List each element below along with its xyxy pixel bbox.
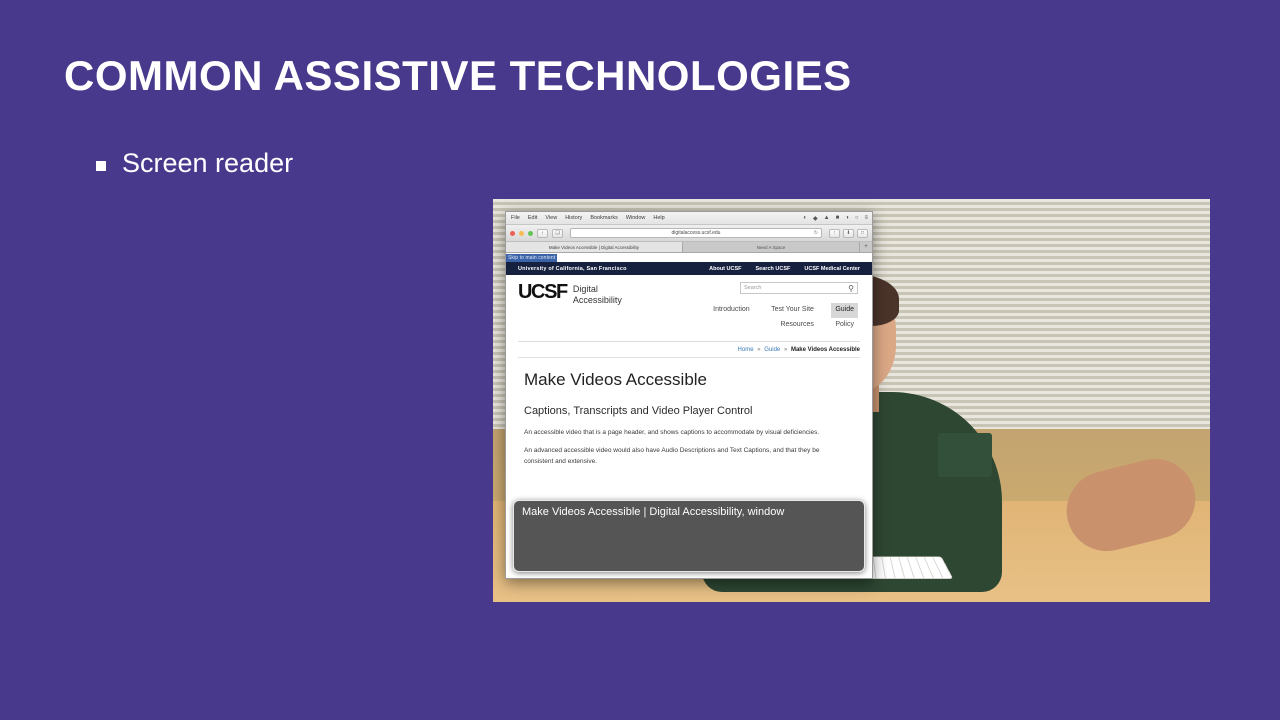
menu-item-window[interactable]: Window	[626, 215, 646, 221]
link-search-ucsf[interactable]: Search UCSF	[756, 266, 791, 272]
bluetooth-icon[interactable]: ◆	[813, 215, 818, 222]
bullet-marker-icon	[96, 161, 106, 171]
clock-icon[interactable]: ◑	[845, 215, 849, 221]
breadcrumb-guide[interactable]: Guide	[764, 347, 780, 353]
content-heading-2: Captions, Transcripts and Video Player C…	[524, 404, 814, 419]
slide-root: COMMON ASSISTIVE TECHNOLOGIES Screen rea…	[0, 0, 1280, 720]
ucsf-logo: UCSF	[518, 282, 567, 302]
menu-item-bookmarks[interactable]: Bookmarks	[590, 215, 618, 221]
content-paragraph-2: An advanced accessible video would also …	[524, 446, 842, 467]
page-content: Make Videos Accessible Captions, Transcr…	[506, 358, 872, 467]
breadcrumb-separator-1: »	[757, 347, 760, 353]
site-header: UCSF Digital Accessibility Search ⚲ Intr…	[506, 275, 872, 337]
wifi-icon[interactable]: ▲	[824, 215, 830, 221]
browser-tab-bar: Make Videos Accessible | Digital Accessi…	[506, 242, 872, 253]
browser-toolbar: ‹ ❑ digitalaccess.ucsf.edu ↻ ↑ ⬇ □	[506, 225, 872, 242]
bullet-item-label: Screen reader	[122, 148, 293, 179]
search-placeholder: Search	[744, 285, 761, 291]
menu-item-view[interactable]: View	[545, 215, 557, 221]
link-ucsf-medical-center[interactable]: UCSF Medical Center	[804, 266, 860, 272]
link-about-ucsf[interactable]: About UCSF	[709, 266, 741, 272]
downloads-button[interactable]: ⬇	[843, 229, 854, 238]
nav-item-introduction[interactable]: Introduction	[709, 303, 754, 318]
toolbar-right-group: ↑ ⬇ □	[829, 229, 868, 238]
share-button[interactable]: ↑	[829, 229, 840, 238]
page-title: COMMON ASSISTIVE TECHNOLOGIES	[64, 52, 852, 100]
tab-overview-button[interactable]: □	[857, 229, 868, 238]
ucsf-brand-label[interactable]: University of California, San Francisco	[518, 266, 627, 272]
ucsf-global-links: About UCSF Search UCSF UCSF Medical Cent…	[709, 266, 860, 272]
nav-item-guide[interactable]: Guide	[831, 303, 858, 318]
content-heading-1: Make Videos Accessible	[524, 370, 854, 390]
address-bar[interactable]: digitalaccess.ucsf.edu ↻	[570, 228, 822, 238]
reload-icon[interactable]: ↻	[814, 230, 818, 236]
nav-item-policy[interactable]: Policy	[831, 318, 858, 333]
minimize-icon[interactable]	[519, 231, 524, 236]
nav-item-test-your-site[interactable]: Test Your Site	[767, 303, 818, 318]
ucsf-global-nav: University of California, San Francisco …	[506, 262, 872, 275]
menu-item-help[interactable]: Help	[653, 215, 664, 221]
battery-icon[interactable]: ■	[836, 215, 840, 221]
sidebar-button[interactable]: ❑	[552, 229, 563, 238]
mac-menu-bar: File Edit View History Bookmarks Window …	[506, 212, 872, 225]
breadcrumb: Home » Guide » Make Videos Accessible	[506, 342, 872, 357]
url-text: digitalaccess.ucsf.edu	[672, 230, 721, 236]
menu-item-history[interactable]: History	[565, 215, 582, 221]
menu-bar-status-icons: ◐ ◆ ▲ ■ ◑ ○ ≡	[803, 212, 868, 224]
site-main-nav: Introduction Test Your Site Guide Resour…	[658, 303, 858, 333]
search-icon[interactable]: ○	[855, 215, 859, 221]
voiceover-caption-panel: Make Videos Accessible | Digital Accessi…	[513, 500, 865, 572]
bullet-list-item: Screen reader	[96, 148, 293, 179]
maximize-icon[interactable]	[528, 231, 533, 236]
volume-icon[interactable]: ◐	[803, 215, 807, 221]
search-input[interactable]: Search ⚲	[740, 282, 858, 294]
site-name-label: Digital Accessibility	[573, 282, 622, 307]
content-paragraph-1: An accessible video that is a page heade…	[524, 428, 842, 438]
new-tab-button[interactable]: +	[860, 242, 872, 252]
skip-to-main-content-link[interactable]: Skip to main content	[506, 254, 557, 262]
tab-secondary[interactable]: Need A Space	[683, 242, 860, 252]
close-icon[interactable]	[510, 231, 515, 236]
menu-item-file[interactable]: File	[511, 215, 520, 221]
browser-window[interactable]: File Edit View History Bookmarks Window …	[505, 211, 873, 579]
breadcrumb-current: Make Videos Accessible	[791, 347, 860, 353]
nav-item-resources[interactable]: Resources	[776, 318, 817, 333]
breadcrumb-separator-2: »	[784, 347, 787, 353]
skip-link-row: Skip to main content	[506, 253, 872, 262]
back-button[interactable]: ‹	[537, 229, 548, 238]
presenter-shirt-pocket	[938, 433, 992, 477]
menu-item-edit[interactable]: Edit	[528, 215, 537, 221]
menu-icon[interactable]: ≡	[864, 215, 868, 221]
breadcrumb-home[interactable]: Home	[738, 347, 754, 353]
tab-make-videos-accessible[interactable]: Make Videos Accessible | Digital Accessi…	[506, 242, 683, 252]
embedded-video[interactable]: File Edit View History Bookmarks Window …	[493, 199, 1210, 602]
search-icon[interactable]: ⚲	[848, 284, 854, 293]
voiceover-caption-text: Make Videos Accessible | Digital Accessi…	[522, 506, 856, 520]
